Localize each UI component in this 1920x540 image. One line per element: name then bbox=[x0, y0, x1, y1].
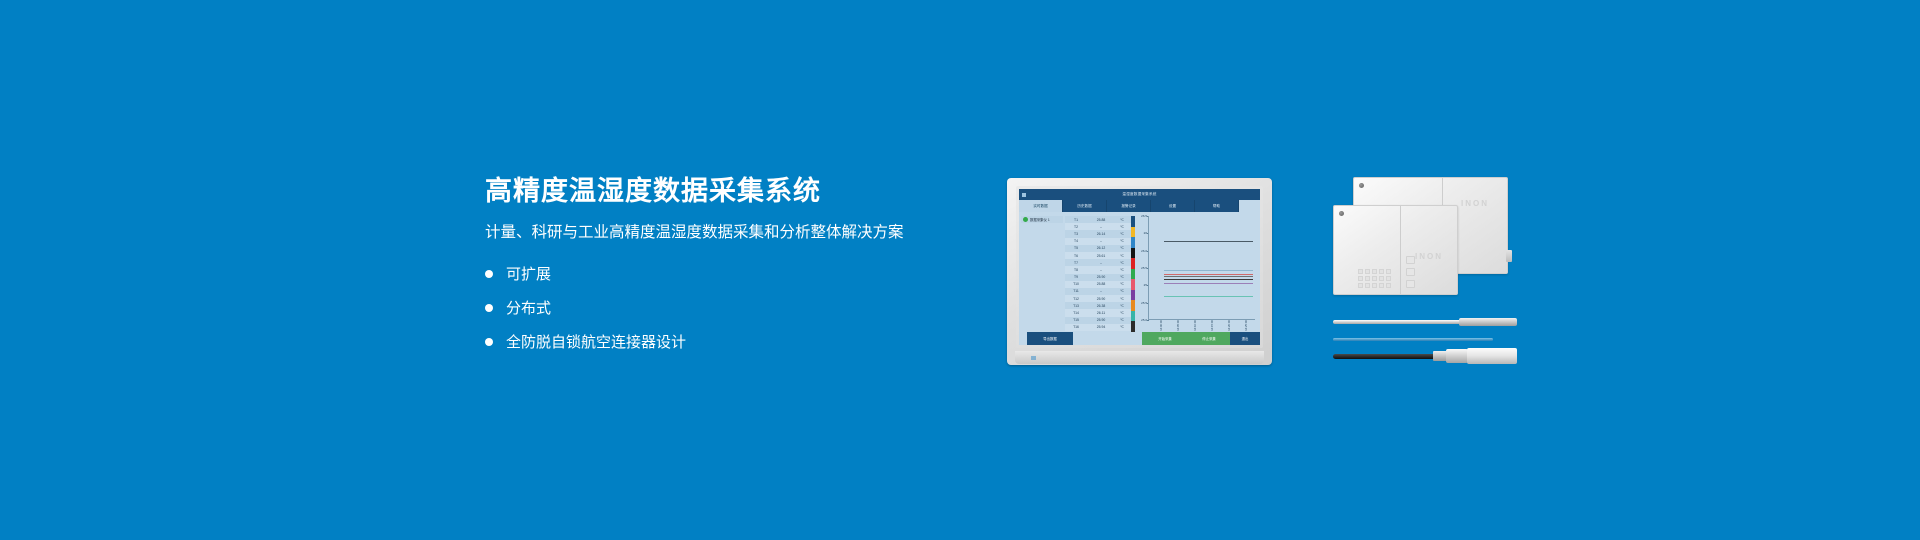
button-label: 导出数据 bbox=[1043, 336, 1057, 341]
cell-channel: T2 bbox=[1065, 225, 1087, 229]
port-cell bbox=[1406, 268, 1415, 276]
vent-cell bbox=[1365, 283, 1370, 288]
cell-value: 26.12 bbox=[1087, 246, 1115, 250]
app-titlebar: 温湿度数据采集系统 bbox=[1019, 189, 1260, 200]
vent-cell bbox=[1386, 283, 1391, 288]
chart-y-axis: 26.52626.025.52525.525.0 bbox=[1137, 216, 1148, 320]
cell-value: 26.38 bbox=[1087, 304, 1115, 308]
legend-color-swatch bbox=[1131, 216, 1135, 227]
temperature-probe-aviation-connector bbox=[1467, 348, 1517, 364]
table-row[interactable]: T1225.90℃ bbox=[1065, 295, 1131, 302]
cell-value: -- bbox=[1087, 261, 1115, 265]
x-axis-tick-label: 14:00:00 bbox=[1159, 320, 1163, 331]
monitor-product-image: 温湿度数据采集系统 实时数据 历史数据 报警记录 设置 bbox=[1007, 178, 1272, 365]
tab-label: 历史数据 bbox=[1077, 204, 1091, 209]
cell-value: 25.90 bbox=[1087, 297, 1115, 301]
vent-grid-icon bbox=[1358, 269, 1391, 288]
vent-cell bbox=[1358, 269, 1363, 274]
feature-list: 可扩展 分布式 全防脱自锁航空连接器设计 bbox=[485, 267, 955, 350]
device-tree-node[interactable]: 数据采集仪 1 bbox=[1021, 216, 1063, 223]
x-axis-tick-label: 14:05:00 bbox=[1176, 320, 1180, 331]
tab-history-data[interactable]: 历史数据 bbox=[1063, 200, 1107, 212]
series-color-legend bbox=[1131, 216, 1135, 332]
list-item: 分布式 bbox=[485, 301, 955, 316]
legend-color-swatch bbox=[1131, 300, 1135, 311]
cell-unit: ℃ bbox=[1115, 318, 1129, 322]
product-hero-banner: 高精度温湿度数据采集系统 计量、科研与工业高精度温湿度数据采集和分析整体解决方案… bbox=[0, 0, 1920, 540]
chart-series-line bbox=[1164, 274, 1253, 275]
table-row[interactable]: T1025.88℃ bbox=[1065, 281, 1131, 288]
legend-color-swatch bbox=[1131, 290, 1135, 301]
app-title: 温湿度数据采集系统 bbox=[1019, 192, 1260, 197]
cell-value: 25.61 bbox=[1087, 254, 1115, 258]
cell-channel: T6 bbox=[1065, 254, 1087, 258]
cell-unit: ℃ bbox=[1115, 275, 1129, 279]
list-item: 可扩展 bbox=[485, 267, 955, 282]
cell-value: -- bbox=[1087, 289, 1115, 293]
cell-channel: T3 bbox=[1065, 232, 1087, 236]
cell-channel: T4 bbox=[1065, 239, 1087, 243]
table-row[interactable]: T7--℃ bbox=[1065, 259, 1131, 266]
cell-channel: T7 bbox=[1065, 261, 1087, 265]
cell-unit: ℃ bbox=[1115, 246, 1129, 250]
exit-button[interactable]: 退出 bbox=[1230, 332, 1260, 345]
bullet-dot-icon bbox=[485, 338, 493, 346]
probe-tip bbox=[1459, 318, 1517, 326]
temperature-probe-stainless bbox=[1333, 320, 1461, 324]
tab-alarm-records[interactable]: 报警记录 bbox=[1107, 200, 1151, 212]
export-data-button[interactable]: 导出数据 bbox=[1027, 332, 1073, 345]
feature-label: 可扩展 bbox=[506, 267, 551, 282]
cell-unit: ℃ bbox=[1115, 289, 1129, 293]
cell-unit: ℃ bbox=[1115, 218, 1129, 222]
cell-channel: T1 bbox=[1065, 218, 1087, 222]
x-axis-tick-label: 14:25:00 bbox=[1244, 320, 1248, 331]
y-axis-tick-label: 26 bbox=[1144, 231, 1147, 235]
channel-value-table: T125.88℃T2--℃T326.14℃T4--℃T526.12℃T625.6… bbox=[1065, 212, 1131, 332]
cell-value: -- bbox=[1087, 268, 1115, 272]
y-axis-tick-label: 26.5 bbox=[1141, 214, 1147, 218]
page-title: 高精度温湿度数据采集系统 bbox=[485, 175, 955, 207]
cell-channel: T15 bbox=[1065, 318, 1087, 322]
legend-color-swatch bbox=[1131, 258, 1135, 269]
x-axis-tick-label: 14:20:00 bbox=[1227, 320, 1231, 331]
legend-color-swatch bbox=[1131, 237, 1135, 248]
vent-cell bbox=[1372, 283, 1377, 288]
feature-label: 分布式 bbox=[506, 301, 551, 316]
tab-settings[interactable]: 设置 bbox=[1151, 200, 1195, 212]
cell-value: -- bbox=[1087, 239, 1115, 243]
vent-cell bbox=[1365, 276, 1370, 281]
hero-text-block: 高精度温湿度数据采集系统 计量、科研与工业高精度温湿度数据采集和分析整体解决方案… bbox=[485, 175, 955, 369]
cell-unit: ℃ bbox=[1115, 282, 1129, 286]
chart-series-line bbox=[1164, 283, 1253, 284]
y-axis-tick-label: 25.0 bbox=[1141, 318, 1147, 322]
temperature-probe-cable-black bbox=[1333, 354, 1436, 359]
brand-logo: INON bbox=[1461, 199, 1489, 208]
cell-unit: ℃ bbox=[1115, 268, 1129, 272]
device-tree-label: 数据采集仪 1 bbox=[1030, 217, 1050, 222]
port-cell bbox=[1406, 256, 1415, 264]
cell-value: 25.90 bbox=[1087, 318, 1115, 322]
table-row[interactable]: T326.14℃ bbox=[1065, 230, 1131, 237]
tab-label: 实时数据 bbox=[1033, 204, 1047, 209]
power-led-icon bbox=[1031, 356, 1036, 360]
probe-ferrule bbox=[1433, 351, 1447, 361]
vent-cell bbox=[1379, 276, 1384, 281]
table-row[interactable]: T625.61℃ bbox=[1065, 252, 1131, 259]
tab-label: 报警记录 bbox=[1121, 204, 1135, 209]
chart-plot-area bbox=[1148, 216, 1255, 320]
data-logger-product-image: INON INON bbox=[1333, 177, 1513, 302]
cell-channel: T13 bbox=[1065, 304, 1087, 308]
legend-color-swatch bbox=[1131, 311, 1135, 322]
device-online-icon bbox=[1023, 217, 1028, 222]
cell-channel: T11 bbox=[1065, 289, 1087, 293]
cell-value: 25.88 bbox=[1087, 282, 1115, 286]
y-axis-tick-label: 25.5 bbox=[1141, 301, 1147, 305]
button-label: 开始采集 bbox=[1158, 336, 1172, 341]
cell-unit: ℃ bbox=[1115, 254, 1129, 258]
app-footer-toolbar: 导出数据 开始采集 停止采集 退出 bbox=[1019, 332, 1260, 345]
cell-value: -- bbox=[1087, 225, 1115, 229]
cell-unit: ℃ bbox=[1115, 311, 1129, 315]
brand-logo: INON bbox=[1415, 252, 1443, 261]
cell-channel: T8 bbox=[1065, 268, 1087, 272]
chart-series-line bbox=[1164, 270, 1253, 271]
tab-realtime-data[interactable]: 实时数据 bbox=[1019, 200, 1063, 212]
table-row[interactable]: T925.90℃ bbox=[1065, 274, 1131, 281]
temperature-probe-cable-blue bbox=[1333, 338, 1493, 341]
table-row[interactable]: T4--℃ bbox=[1065, 238, 1131, 245]
cell-channel: T12 bbox=[1065, 297, 1087, 301]
vent-cell bbox=[1386, 269, 1391, 274]
y-axis-tick-label: 26.0 bbox=[1141, 249, 1147, 253]
feature-label: 全防脱自锁航空连接器设计 bbox=[506, 335, 686, 350]
probe-collar bbox=[1446, 349, 1468, 363]
table-row[interactable]: T125.88℃ bbox=[1065, 216, 1131, 223]
legend-color-swatch bbox=[1131, 248, 1135, 259]
sensor-probe-product-image bbox=[1333, 313, 1518, 368]
legend-color-swatch bbox=[1131, 321, 1135, 332]
tab-bar-filler bbox=[1239, 200, 1260, 212]
panel-seam bbox=[1400, 206, 1401, 294]
list-item: 全防脱自锁航空连接器设计 bbox=[485, 335, 955, 350]
footer-spacer bbox=[1073, 332, 1142, 345]
app-body: 数据采集仪 1 T125.88℃T2--℃T326.14℃T4--℃T526.1… bbox=[1019, 212, 1260, 332]
table-row[interactable]: T2--℃ bbox=[1065, 223, 1131, 230]
app-tab-bar: 实时数据 历史数据 报警记录 设置 帮助 bbox=[1019, 200, 1260, 212]
data-logger-front-unit: INON bbox=[1333, 205, 1458, 295]
cell-value: 25.88 bbox=[1087, 218, 1115, 222]
bullet-dot-icon bbox=[485, 304, 493, 312]
chart-series-line bbox=[1164, 279, 1253, 280]
cell-value: 26.14 bbox=[1087, 232, 1115, 236]
vent-cell bbox=[1379, 283, 1384, 288]
cell-unit: ℃ bbox=[1115, 325, 1129, 329]
legend-color-swatch bbox=[1131, 269, 1135, 280]
table-row[interactable]: T526.12℃ bbox=[1065, 245, 1131, 252]
table-row[interactable]: T8--℃ bbox=[1065, 266, 1131, 273]
cell-unit: ℃ bbox=[1115, 239, 1129, 243]
port-cell bbox=[1406, 280, 1415, 288]
vent-cell bbox=[1372, 276, 1377, 281]
button-label: 退出 bbox=[1242, 336, 1249, 341]
cell-unit: ℃ bbox=[1115, 225, 1129, 229]
monitor-screen: 温湿度数据采集系统 实时数据 历史数据 报警记录 设置 bbox=[1019, 189, 1260, 345]
table-row[interactable]: T1525.90℃ bbox=[1065, 317, 1131, 324]
vent-cell bbox=[1372, 269, 1377, 274]
x-axis-tick-label: 14:10:00 bbox=[1193, 320, 1197, 331]
cell-unit: ℃ bbox=[1115, 232, 1129, 236]
y-axis-tick-label: 25.5 bbox=[1141, 266, 1147, 270]
chart-series-line bbox=[1164, 276, 1253, 277]
page-subtitle: 计量、科研与工业高精度温湿度数据采集和分析整体解决方案 bbox=[485, 223, 955, 243]
monitor-base bbox=[1015, 351, 1264, 364]
bullet-dot-icon bbox=[485, 270, 493, 278]
table-row[interactable]: T1625.94℃ bbox=[1065, 324, 1131, 331]
port-column-icon bbox=[1406, 256, 1415, 288]
cell-value: 26.11 bbox=[1087, 311, 1115, 315]
cell-unit: ℃ bbox=[1115, 261, 1129, 265]
vent-cell bbox=[1358, 283, 1363, 288]
legend-color-swatch bbox=[1131, 279, 1135, 290]
table-row[interactable]: T1326.38℃ bbox=[1065, 302, 1131, 309]
stop-acquisition-button[interactable]: 停止采集 bbox=[1188, 332, 1230, 345]
cell-value: 25.90 bbox=[1087, 275, 1115, 279]
x-axis-tick-label: 14:15:00 bbox=[1210, 320, 1214, 331]
chart-x-axis: 14:00:0014:05:0014:10:0014:15:0014:20:00… bbox=[1148, 320, 1255, 330]
cell-unit: ℃ bbox=[1115, 304, 1129, 308]
vent-cell bbox=[1358, 276, 1363, 281]
cell-channel: T9 bbox=[1065, 275, 1087, 279]
chart-series-line bbox=[1164, 296, 1253, 297]
cell-channel: T14 bbox=[1065, 311, 1087, 315]
table-row[interactable]: T11--℃ bbox=[1065, 288, 1131, 295]
screw-icon bbox=[1339, 211, 1344, 216]
screw-icon bbox=[1359, 183, 1364, 188]
cell-channel: T10 bbox=[1065, 282, 1087, 286]
vent-cell bbox=[1365, 269, 1370, 274]
vent-cell bbox=[1386, 276, 1391, 281]
button-label: 停止采集 bbox=[1202, 336, 1216, 341]
chart-series-line bbox=[1164, 241, 1253, 242]
realtime-trend-chart: 26.52626.025.52525.525.0 14:00:0014:05:0… bbox=[1137, 216, 1257, 330]
tab-label: 设置 bbox=[1169, 204, 1176, 209]
cell-value: 25.94 bbox=[1087, 325, 1115, 329]
y-axis-tick-label: 25 bbox=[1144, 283, 1147, 287]
tab-label: 帮助 bbox=[1213, 204, 1220, 209]
legend-color-swatch bbox=[1131, 227, 1135, 238]
tab-help[interactable]: 帮助 bbox=[1195, 200, 1239, 212]
device-tree-panel: 数据采集仪 1 bbox=[1019, 212, 1065, 332]
monitor-inner-bezel: 温湿度数据采集系统 实时数据 历史数据 报警记录 设置 bbox=[1016, 186, 1263, 348]
connector-port-icon bbox=[1506, 250, 1512, 262]
cell-channel: T5 bbox=[1065, 246, 1087, 250]
start-acquisition-button[interactable]: 开始采集 bbox=[1142, 332, 1188, 345]
cell-channel: T16 bbox=[1065, 325, 1087, 329]
table-row[interactable]: T1426.11℃ bbox=[1065, 309, 1131, 316]
vent-cell bbox=[1379, 269, 1384, 274]
cell-unit: ℃ bbox=[1115, 297, 1129, 301]
